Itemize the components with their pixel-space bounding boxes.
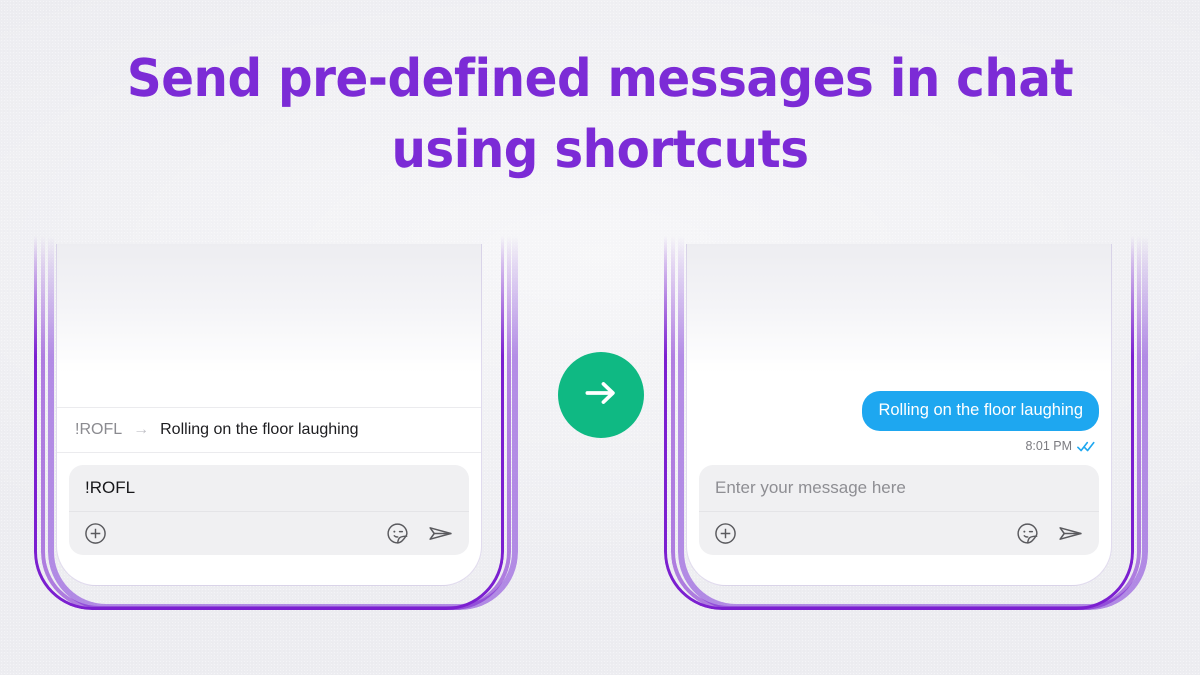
page-title: Send pre-defined messages in chat using … bbox=[42, 44, 1158, 185]
phone-mockup-after: Rolling on the floor laughing 8:01 PM En… bbox=[656, 236, 1136, 616]
sticker-wink-icon[interactable] bbox=[1015, 521, 1040, 546]
double-check-icon bbox=[1077, 440, 1095, 453]
shortcut-suggestion-row[interactable]: !ROFL → Rolling on the floor laughing bbox=[57, 407, 481, 453]
arrow-right-icon: → bbox=[133, 422, 149, 438]
message-bubble-outgoing[interactable]: Rolling on the floor laughing bbox=[862, 391, 1099, 432]
plus-circle-icon[interactable] bbox=[713, 521, 738, 546]
phone-screen-after: Rolling on the floor laughing 8:01 PM En… bbox=[686, 244, 1112, 586]
message-composer-after[interactable]: Enter your message here bbox=[699, 465, 1099, 555]
sticker-wink-icon[interactable] bbox=[385, 521, 410, 546]
message-meta: 8:01 PM bbox=[1025, 439, 1095, 453]
shortcut-code-label: !ROFL bbox=[75, 421, 122, 439]
shortcut-expansion-label: Rolling on the floor laughing bbox=[160, 421, 358, 439]
send-paper-plane-icon[interactable] bbox=[426, 519, 455, 548]
chat-thread-before bbox=[57, 244, 481, 407]
composer-action-bar-after bbox=[699, 511, 1099, 555]
arrow-right-icon bbox=[580, 372, 622, 419]
composer-action-bar-before bbox=[69, 511, 469, 555]
plus-circle-icon[interactable] bbox=[83, 521, 108, 546]
page-title-line-2: using shortcuts bbox=[42, 115, 1158, 186]
message-timestamp: 8:01 PM bbox=[1025, 439, 1072, 453]
message-input-after[interactable]: Enter your message here bbox=[699, 465, 1099, 511]
send-paper-plane-icon[interactable] bbox=[1056, 519, 1085, 548]
message-input-before[interactable]: !ROFL bbox=[69, 465, 469, 511]
chat-thread-after: Rolling on the floor laughing 8:01 PM bbox=[687, 244, 1111, 453]
transition-arrow-badge bbox=[558, 352, 644, 438]
message-row-outgoing: Rolling on the floor laughing 8:01 PM bbox=[862, 391, 1099, 454]
phone-mockup-before: !ROFL → Rolling on the floor laughing !R… bbox=[26, 236, 506, 616]
message-composer-before[interactable]: !ROFL bbox=[69, 465, 469, 555]
phone-screen-before: !ROFL → Rolling on the floor laughing !R… bbox=[56, 244, 482, 586]
page-title-line-1: Send pre-defined messages in chat bbox=[42, 44, 1158, 115]
